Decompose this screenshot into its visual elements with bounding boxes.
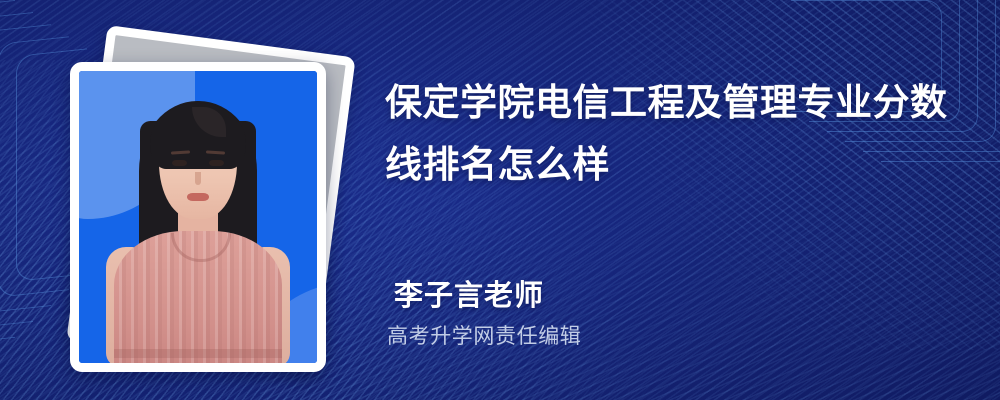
portrait-eye-right [209,160,224,166]
portrait-dress-waist [114,349,282,358]
article-banner: 保定学院电信工程及管理专业分数线排名怎么样 李子言老师 高考升学网责任编辑 [0,0,1000,400]
portrait-nose [195,172,201,185]
author-name: 李子言老师 [394,272,544,314]
portrait-lips [187,193,209,201]
banner-headline: 保定学院电信工程及管理专业分数线排名怎么样 [385,72,965,196]
photo-card-front [70,62,326,372]
banner-text-column: 保定学院电信工程及管理专业分数线排名怎么样 李子言老师 高考升学网责任编辑 [385,0,975,400]
author-role: 高考升学网责任编辑 [387,320,581,350]
portrait-figure [79,71,317,363]
portrait-photo-stack [46,34,356,364]
portrait-eye-left [172,160,187,166]
